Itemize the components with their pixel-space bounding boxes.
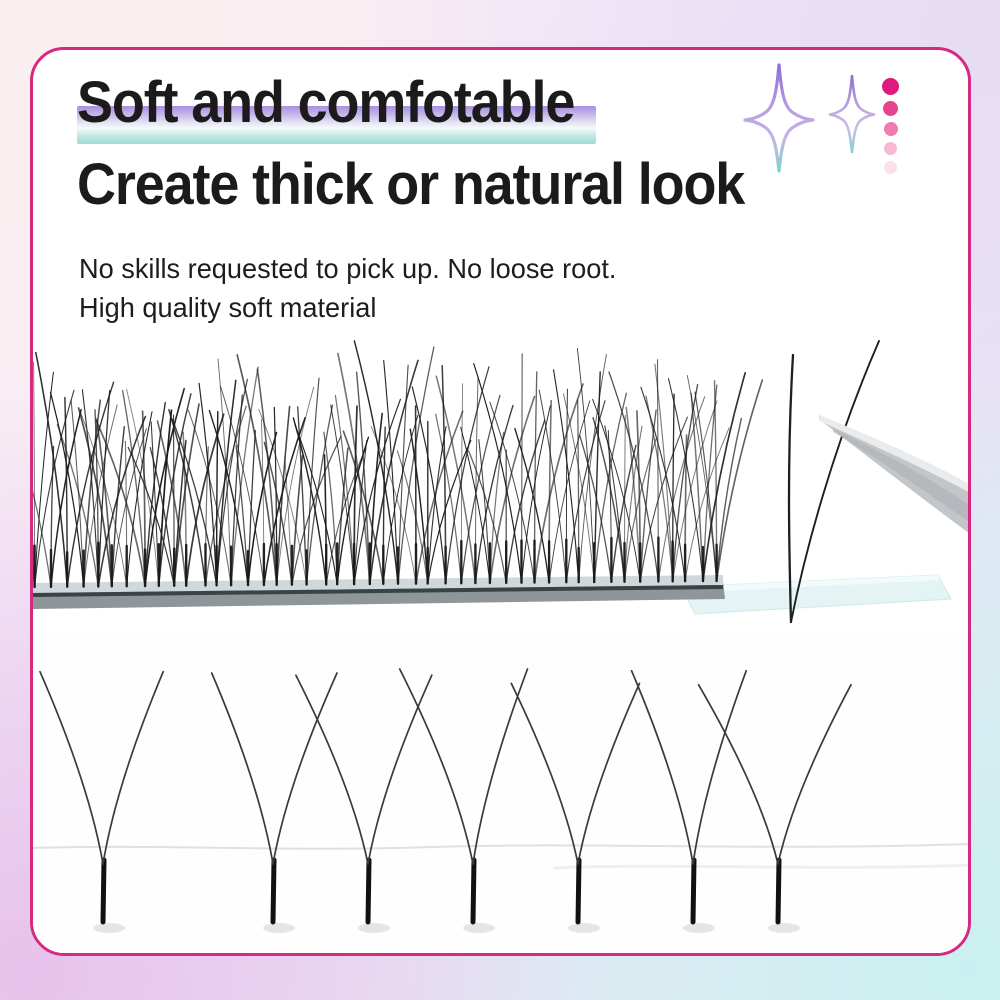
decoration-dot bbox=[884, 122, 898, 136]
decoration-dot bbox=[884, 161, 897, 174]
content-frame: Soft and comfotable Create thick or natu… bbox=[30, 47, 971, 956]
decoration-dot bbox=[882, 78, 899, 95]
subcopy-line-2: High quality soft material bbox=[79, 289, 855, 328]
page-title: Soft and comfotable bbox=[77, 74, 877, 132]
page-subtitle: Create thick or natural look bbox=[77, 156, 877, 214]
decoration-dot-column bbox=[882, 78, 899, 174]
subcopy-line-1: No skills requested to pick up. No loose… bbox=[79, 250, 855, 289]
individual-lash-fans-photo bbox=[33, 632, 971, 956]
decoration-dot bbox=[883, 101, 898, 116]
lash-tray-with-tweezers-photo bbox=[33, 337, 971, 632]
decoration-dot bbox=[884, 142, 897, 155]
subcopy-block: No skills requested to pick up. No loose… bbox=[79, 250, 879, 327]
headline-line-1-wrapper: Soft and comfotable bbox=[77, 74, 937, 136]
